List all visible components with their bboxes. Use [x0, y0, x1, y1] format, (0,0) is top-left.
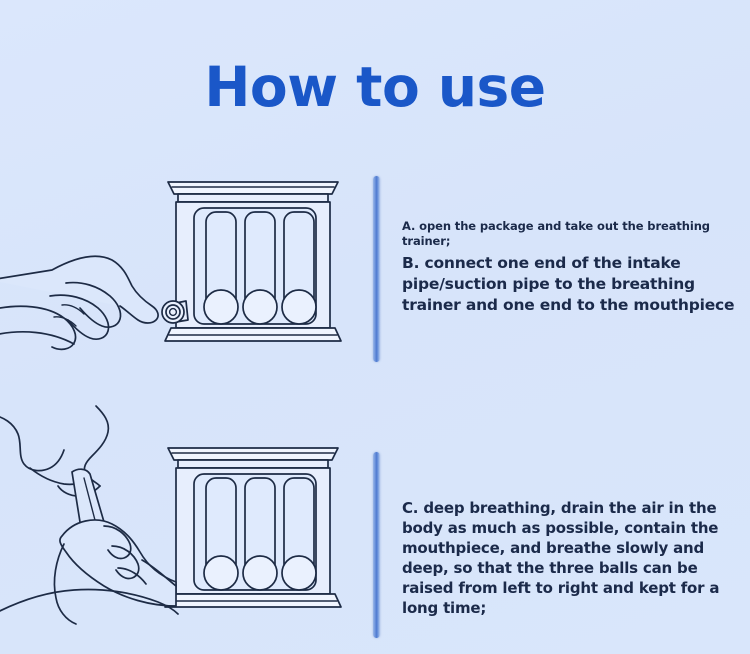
breathing-trainer-bottom — [165, 448, 341, 607]
hand-top — [0, 256, 158, 349]
step-c-text: C. deep breathing, drain the air in the … — [402, 498, 742, 618]
step-a-text: A. open the package and take out the bre… — [402, 219, 742, 249]
ball-3 — [282, 556, 316, 590]
divider-bar-bottom — [373, 452, 380, 638]
step-b-text: B. connect one end of the intake pipe/su… — [402, 253, 737, 316]
intake-port-icon — [162, 301, 188, 323]
divider-bar-top — [373, 176, 380, 362]
ball-2 — [243, 556, 277, 590]
illustration-top — [0, 160, 360, 385]
how-to-use-page: How to use — [0, 0, 750, 654]
ball-1 — [204, 556, 238, 590]
page-title: How to use — [0, 56, 750, 118]
illustration-bottom — [0, 420, 360, 650]
hand-bottom — [0, 520, 178, 624]
ball-1 — [204, 290, 238, 324]
breathing-trainer-top — [162, 182, 341, 341]
ball-3 — [282, 290, 316, 324]
ball-2 — [243, 290, 277, 324]
